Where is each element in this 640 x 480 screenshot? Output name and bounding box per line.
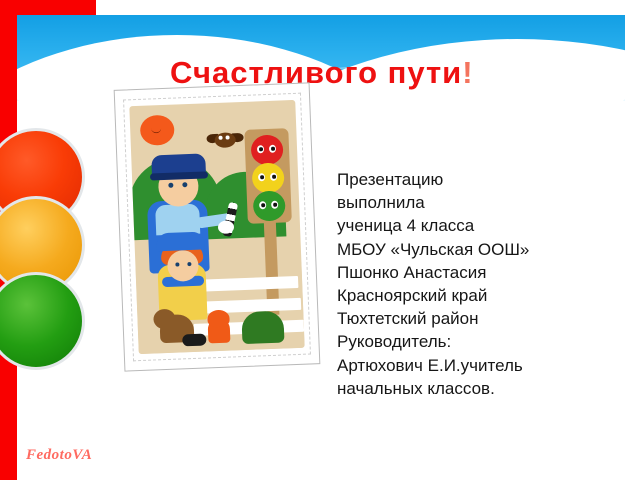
sun-icon <box>140 115 175 146</box>
face-eye <box>270 173 277 181</box>
face-eye <box>258 173 265 181</box>
credit-line: МБОУ «Чульская ООШ» <box>337 238 637 261</box>
watermark: FedotoVA <box>26 447 92 464</box>
cat-head <box>207 310 230 328</box>
credit-line: начальных классов. <box>337 377 637 400</box>
credit-line: Презентацию <box>337 168 637 191</box>
road-safety-puzzle-image <box>129 100 304 354</box>
policeman-shoe <box>182 333 206 346</box>
presentation-credits: Презентацию выполнила ученица 4 класса М… <box>337 168 637 400</box>
credit-line: Пшонко Анастасия <box>337 261 637 284</box>
face-eye <box>271 201 278 209</box>
face-eye <box>259 201 266 209</box>
policeman-shirt <box>155 204 200 236</box>
child-cap <box>156 231 205 251</box>
credit-line: Артюхович Е.И.учитель <box>337 354 637 377</box>
credit-line: Красноярский край <box>337 284 637 307</box>
presentation-slide: Счастливого пути! <box>0 0 640 480</box>
photo-card <box>114 82 321 371</box>
credit-line: Тюхтетский район <box>337 307 637 330</box>
credit-line: выполнила <box>337 191 637 214</box>
bush-icon <box>241 311 284 345</box>
slide-title-exclamation: ! <box>462 55 472 90</box>
photo-inner-frame <box>123 93 311 362</box>
bird-eye <box>219 136 223 140</box>
credit-line: Руководитель: <box>337 330 637 353</box>
face-eye <box>269 145 276 153</box>
face-eye <box>257 145 264 153</box>
credit-line: ученица 4 класса <box>337 214 637 237</box>
bird-icon <box>214 132 236 148</box>
slide-title-text: Счастливого пути <box>170 55 462 90</box>
